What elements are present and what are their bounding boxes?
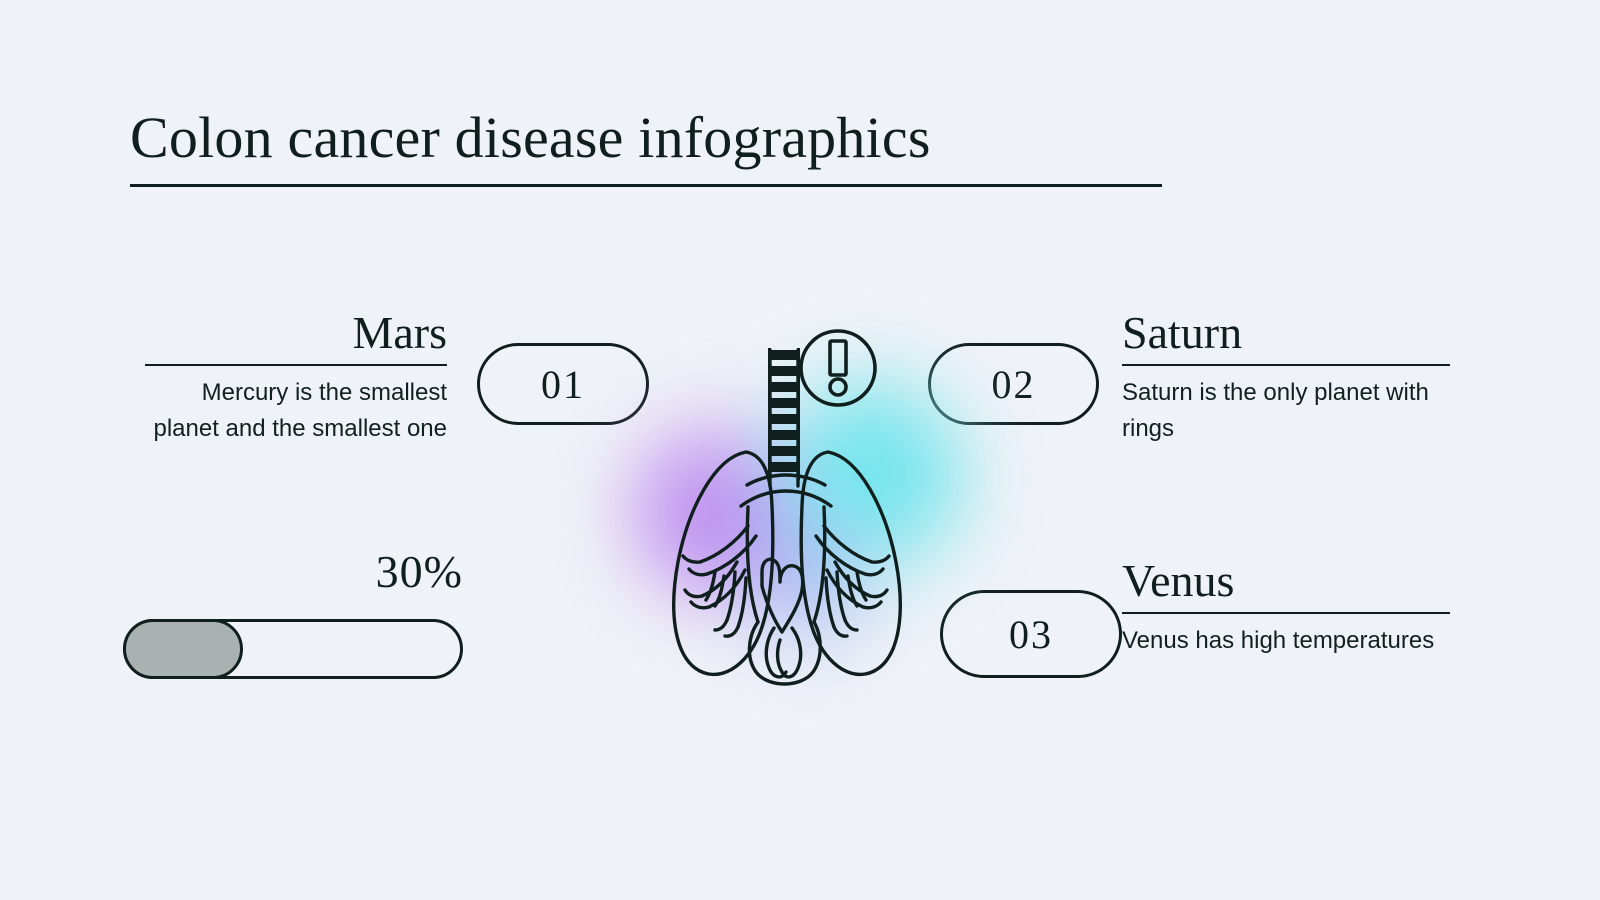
slide-canvas: Colon cancer disease infographics Mars M… bbox=[0, 0, 1600, 900]
progress-block: 30% bbox=[123, 545, 463, 679]
progress-track[interactable] bbox=[123, 619, 463, 679]
lungs-line-art-icon bbox=[596, 310, 976, 690]
info-block-saturn: Saturn Saturn is the only planet with ri… bbox=[1122, 306, 1450, 447]
info-divider-venus bbox=[1122, 612, 1450, 614]
title-block: Colon cancer disease infographics bbox=[130, 104, 1162, 187]
info-divider-mars bbox=[145, 364, 447, 366]
info-body-saturn: Saturn is the only planet with rings bbox=[1122, 375, 1450, 447]
info-block-venus: Venus Venus has high temperatures bbox=[1122, 554, 1450, 659]
number-badge-03-label: 03 bbox=[1009, 611, 1053, 658]
info-heading-saturn: Saturn bbox=[1122, 306, 1450, 360]
info-body-mars: Mercury is the smallest planet and the s… bbox=[145, 375, 447, 447]
progress-value-label: 30% bbox=[123, 545, 463, 599]
number-badge-01-label: 01 bbox=[541, 361, 585, 408]
info-heading-mars: Mars bbox=[145, 306, 447, 360]
lungs-illustration bbox=[596, 310, 976, 690]
exclamation-circle-icon bbox=[797, 327, 879, 409]
page-title: Colon cancer disease infographics bbox=[130, 104, 1162, 172]
info-block-mars: Mars Mercury is the smallest planet and … bbox=[145, 306, 447, 447]
number-badge-02-label: 02 bbox=[992, 361, 1036, 408]
info-body-venus: Venus has high temperatures bbox=[1122, 623, 1450, 659]
title-underline bbox=[130, 184, 1162, 187]
trachea-rings bbox=[768, 348, 800, 480]
info-divider-saturn bbox=[1122, 364, 1450, 366]
progress-fill bbox=[123, 619, 243, 679]
info-heading-venus: Venus bbox=[1122, 554, 1450, 608]
